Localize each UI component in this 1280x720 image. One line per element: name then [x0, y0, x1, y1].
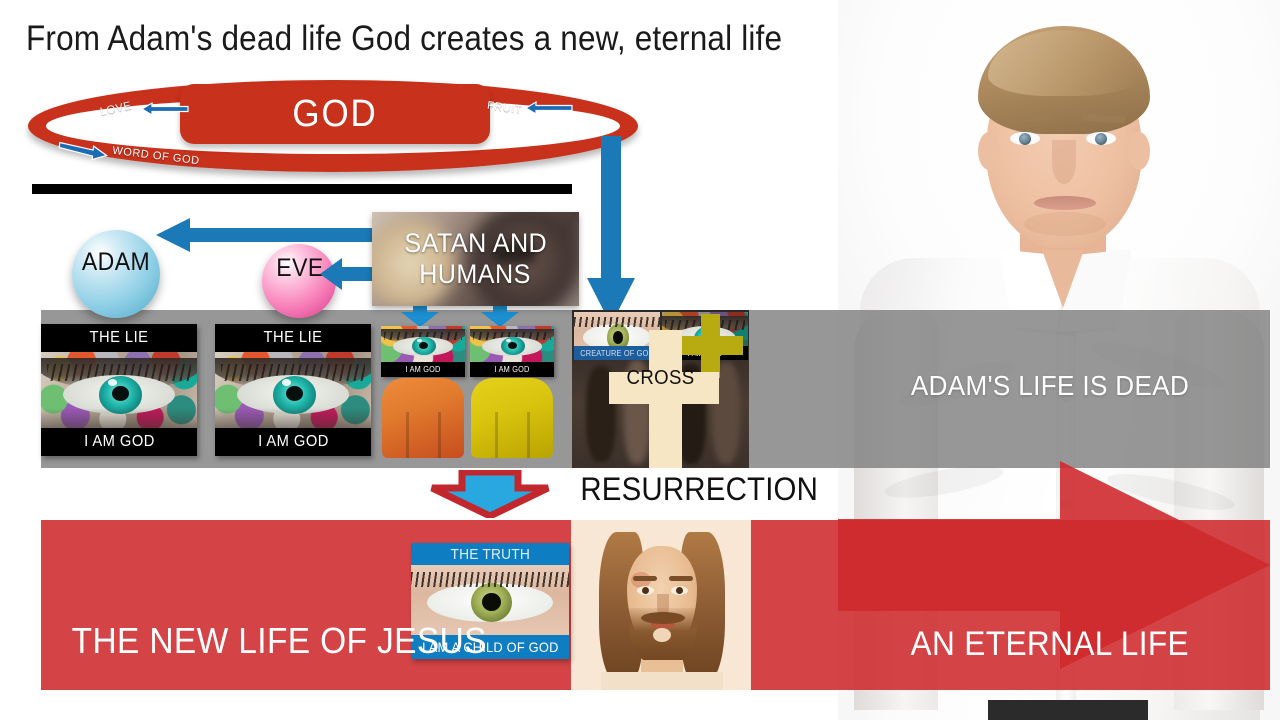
person-figure-orange	[382, 378, 464, 458]
satan-label-line2: HUMANS	[420, 259, 532, 290]
an-eternal-life-label: AN ETERNAL LIFE	[900, 625, 1199, 664]
lie-card-top-caption: THE LIE	[90, 329, 149, 347]
satan-label-line1: SATAN AND	[404, 228, 547, 259]
arrow-down-icon-resurrection	[428, 470, 552, 518]
small-card-caption: I AM GOD	[494, 365, 529, 374]
mosaic-eye-image	[470, 326, 554, 362]
arrow-right-icon-word	[57, 141, 109, 161]
satan-and-humans-card: SATAN AND HUMANS	[372, 212, 579, 306]
lie-card: THE LIE I AM GOD	[41, 324, 197, 456]
arrow-down-icon-god-to-cross	[586, 136, 636, 326]
god-label: GOD	[192, 84, 477, 144]
adams-life-is-dead-label: ADAM'S LIFE IS DEAD	[860, 370, 1240, 402]
mosaic-eye-image	[381, 326, 465, 362]
arrow-left-icon-love	[140, 100, 190, 118]
slide-canvas: From Adam's dead life God creates a new,…	[0, 0, 1280, 720]
small-i-am-god-card: I AM GOD	[470, 326, 554, 377]
adam-label: ADAM	[76, 248, 157, 277]
new-life-of-jesus-label: THE NEW LIFE OF JESUS	[56, 620, 502, 662]
black-divider-bar	[32, 184, 572, 194]
person-figure-yellow	[471, 378, 553, 458]
small-i-am-god-card: I AM GOD	[381, 326, 465, 377]
arrow-left-icon-to-adam	[156, 218, 386, 252]
truth-card-top-caption: THE TRUTH	[450, 546, 530, 563]
lie-card: THE LIE I AM GOD	[215, 324, 371, 456]
mosaic-eye-image	[41, 352, 197, 428]
god-box: GOD	[180, 84, 490, 144]
arrow-left-icon-fruit	[524, 99, 574, 117]
small-card-caption: I AM GOD	[405, 365, 440, 374]
mosaic-eye-image	[215, 352, 371, 428]
page-title: From Adam's dead life God creates a new,…	[26, 18, 836, 60]
lie-card-bottom-caption: I AM GOD	[84, 433, 155, 451]
cross-label: CROSS	[572, 362, 749, 394]
cream-cross-icon	[609, 330, 719, 468]
jesus-portrait-image	[571, 520, 751, 690]
resurrection-label: RESURRECTION	[570, 471, 828, 508]
lie-card-bottom-caption: I AM GOD	[258, 433, 329, 451]
lie-card-top-caption: THE LIE	[264, 329, 323, 347]
